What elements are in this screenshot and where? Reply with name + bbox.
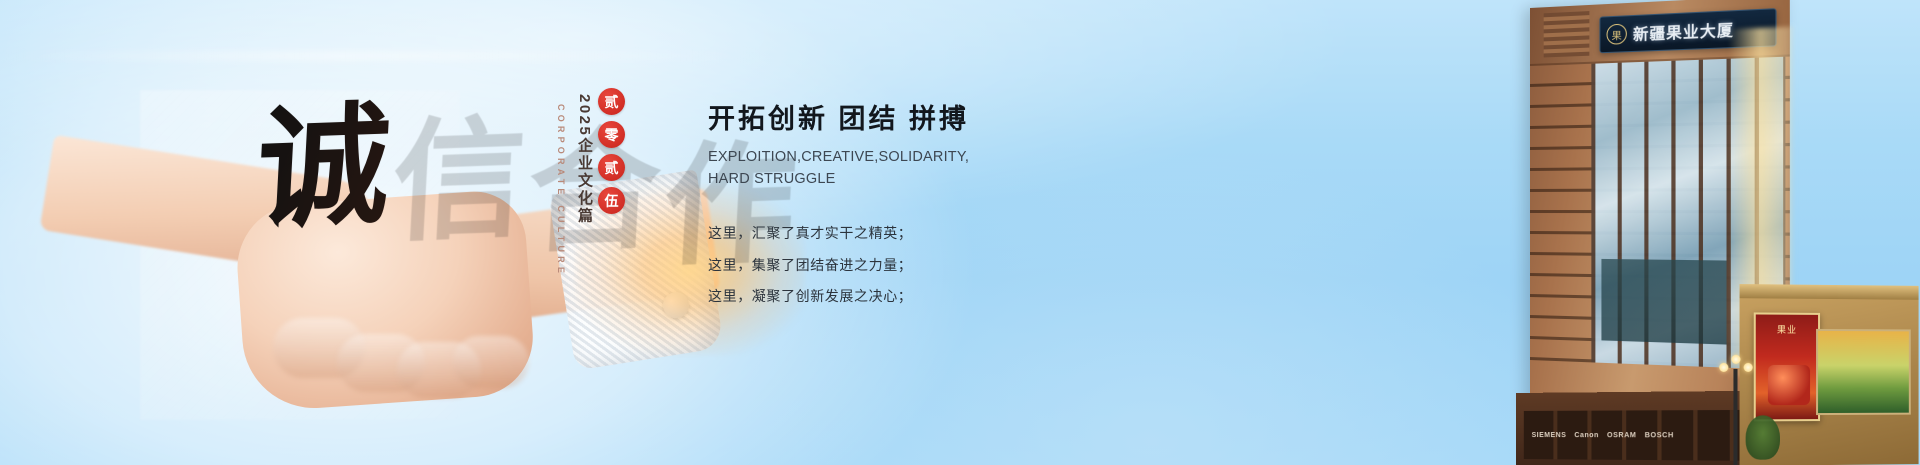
vertical-english-caption: CORPORATE CULTURE bbox=[556, 104, 566, 277]
annex-cornice bbox=[1740, 284, 1919, 300]
shop-label: SIEMENS bbox=[1532, 432, 1567, 439]
corporate-culture-banner: 诚信合作 CORPORATE CULTURE 2025企业文化篇 贰 零 贰 伍… bbox=[0, 0, 1920, 465]
street-tree bbox=[1746, 415, 1780, 460]
glass-reflection-dark bbox=[1601, 259, 1726, 345]
billboard-red-text: 果业 bbox=[1756, 323, 1818, 336]
louver-vent bbox=[1544, 11, 1590, 57]
knuckle bbox=[453, 336, 529, 388]
description-list: 这里，汇聚了真才实干之精英； 这里，集聚了团结奋进之力量； 这里，凝聚了创新发展… bbox=[708, 218, 1128, 313]
billboard-green bbox=[1816, 329, 1911, 415]
fruit-graphic bbox=[1768, 365, 1810, 405]
calligraphy-char-2: 信 bbox=[389, 101, 533, 261]
calligraphy-char-1: 诚 bbox=[253, 88, 397, 248]
street-lamp-pole bbox=[1733, 369, 1737, 465]
building-logo-icon: 果 bbox=[1606, 24, 1626, 45]
vertical-chinese-caption: 2025企业文化篇 bbox=[574, 94, 595, 225]
copy-block: 开拓创新 团结 拼搏 EXPLOITION,CREATIVE,SOLIDARIT… bbox=[708, 103, 1128, 313]
sky-light-band bbox=[0, 52, 760, 60]
building-sign-text: 新疆果业大厦 bbox=[1633, 18, 1734, 44]
subline-english: EXPLOITION,CREATIVE,SOLIDARITY, HARD STR… bbox=[708, 147, 923, 190]
shop-label: Canon bbox=[1574, 432, 1599, 439]
headline: 开拓创新 团结 拼搏 bbox=[708, 103, 1128, 135]
shop-label: OSRAM bbox=[1607, 432, 1636, 439]
seal-1: 贰 bbox=[598, 88, 625, 115]
billboard-red: 果业 bbox=[1754, 312, 1820, 421]
seal-2: 零 bbox=[598, 121, 625, 148]
annex-block: 果业 bbox=[1740, 284, 1919, 465]
vertical-caption-column: CORPORATE CULTURE 2025企业文化篇 贰 零 贰 伍 bbox=[556, 88, 676, 303]
shop-label: BOSCH bbox=[1645, 432, 1674, 439]
seal-3: 贰 bbox=[598, 154, 625, 181]
seal-4: 伍 bbox=[598, 187, 625, 214]
seal-stack: 贰 零 贰 伍 bbox=[598, 88, 632, 220]
building-image: 果 新疆果业大厦 SIEMENS Canon OSRAM BOSCH 果业 bbox=[1500, 0, 1920, 465]
description-line-2: 这里，集聚了团结奋进之力量； bbox=[708, 250, 1128, 282]
description-line-1: 这里，汇聚了真才实干之精英； bbox=[708, 218, 1128, 250]
description-line-3: 这里，凝聚了创新发展之决心； bbox=[708, 281, 1128, 313]
street-lamp-heads bbox=[1719, 355, 1754, 377]
